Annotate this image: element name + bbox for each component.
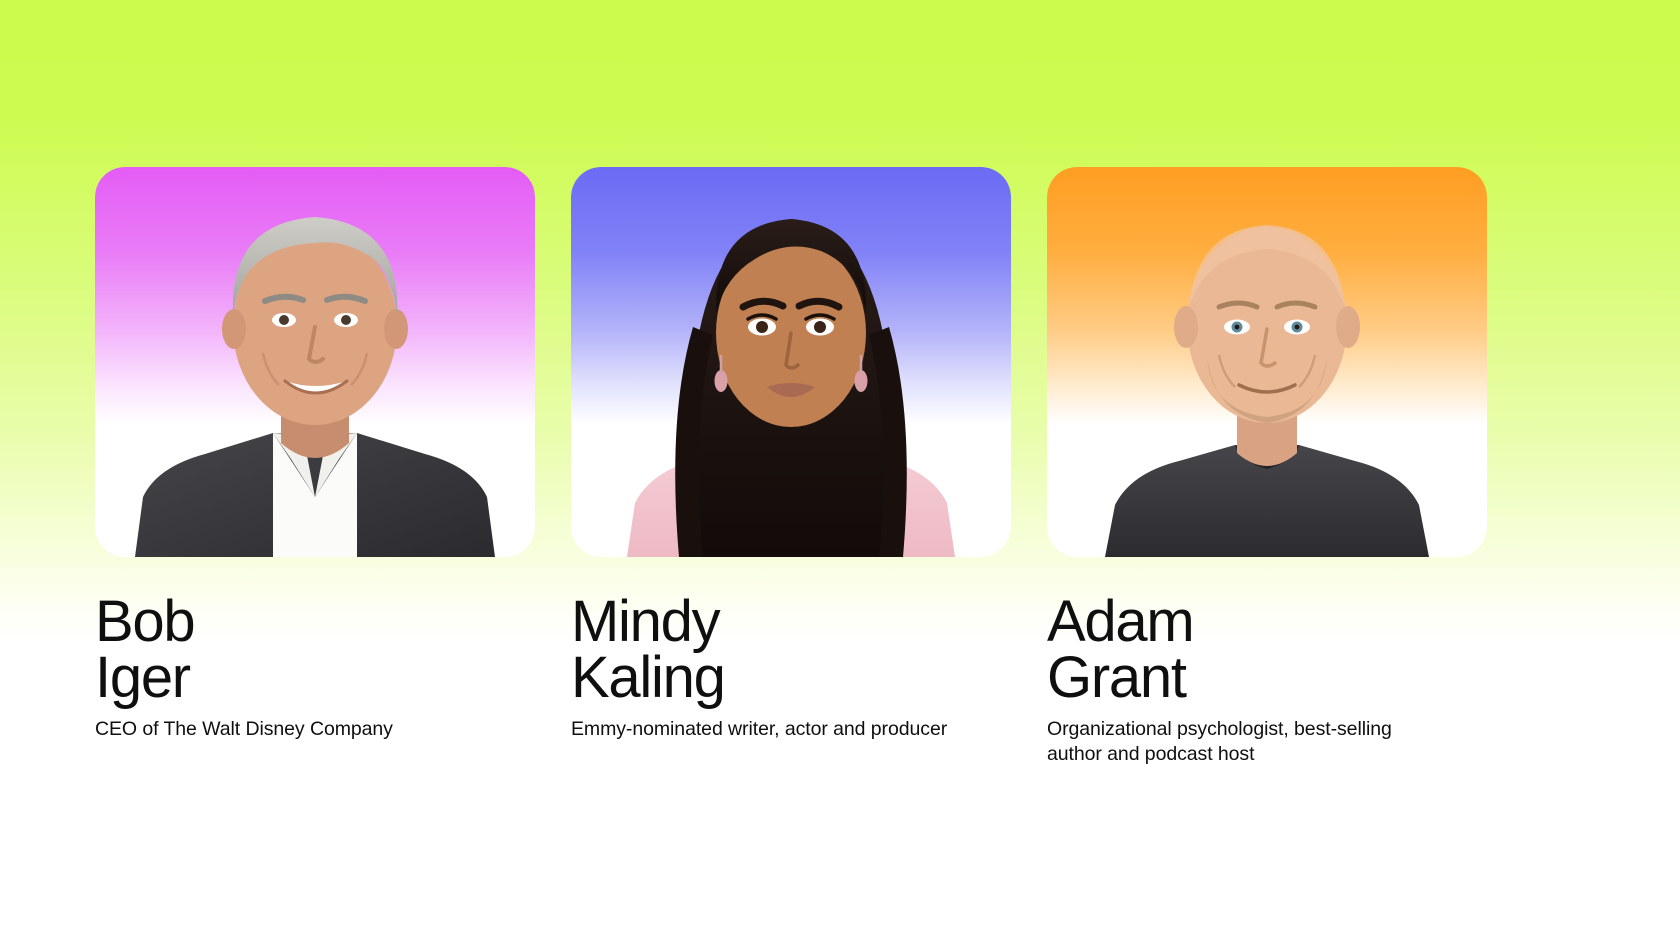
speaker-name: Bob Iger [95, 594, 535, 705]
speaker-portrait [1047, 167, 1487, 557]
speaker-card[interactable]: Adam Grant Organizational psychologist, … [1047, 167, 1487, 767]
mindy-kaling-portrait-illustration [571, 167, 1011, 557]
speaker-role: Organizational psychologist, best-sellin… [1047, 717, 1451, 767]
bob-iger-portrait-illustration [95, 167, 535, 557]
adam-grant-portrait-illustration [1047, 167, 1487, 557]
speaker-role: Emmy-nominated writer, actor and produce… [571, 717, 975, 742]
speaker-portrait [571, 167, 1011, 557]
speaker-name: Mindy Kaling [571, 594, 1011, 705]
speaker-role: CEO of The Walt Disney Company [95, 717, 499, 742]
speaker-card-grid: Bob Iger CEO of The Walt Disney Company [0, 0, 1680, 945]
speaker-portrait [95, 167, 535, 557]
speaker-card[interactable]: Mindy Kaling Emmy-nominated writer, acto… [571, 167, 1011, 742]
speaker-name: Adam Grant [1047, 594, 1487, 705]
speaker-card[interactable]: Bob Iger CEO of The Walt Disney Company [95, 167, 535, 742]
